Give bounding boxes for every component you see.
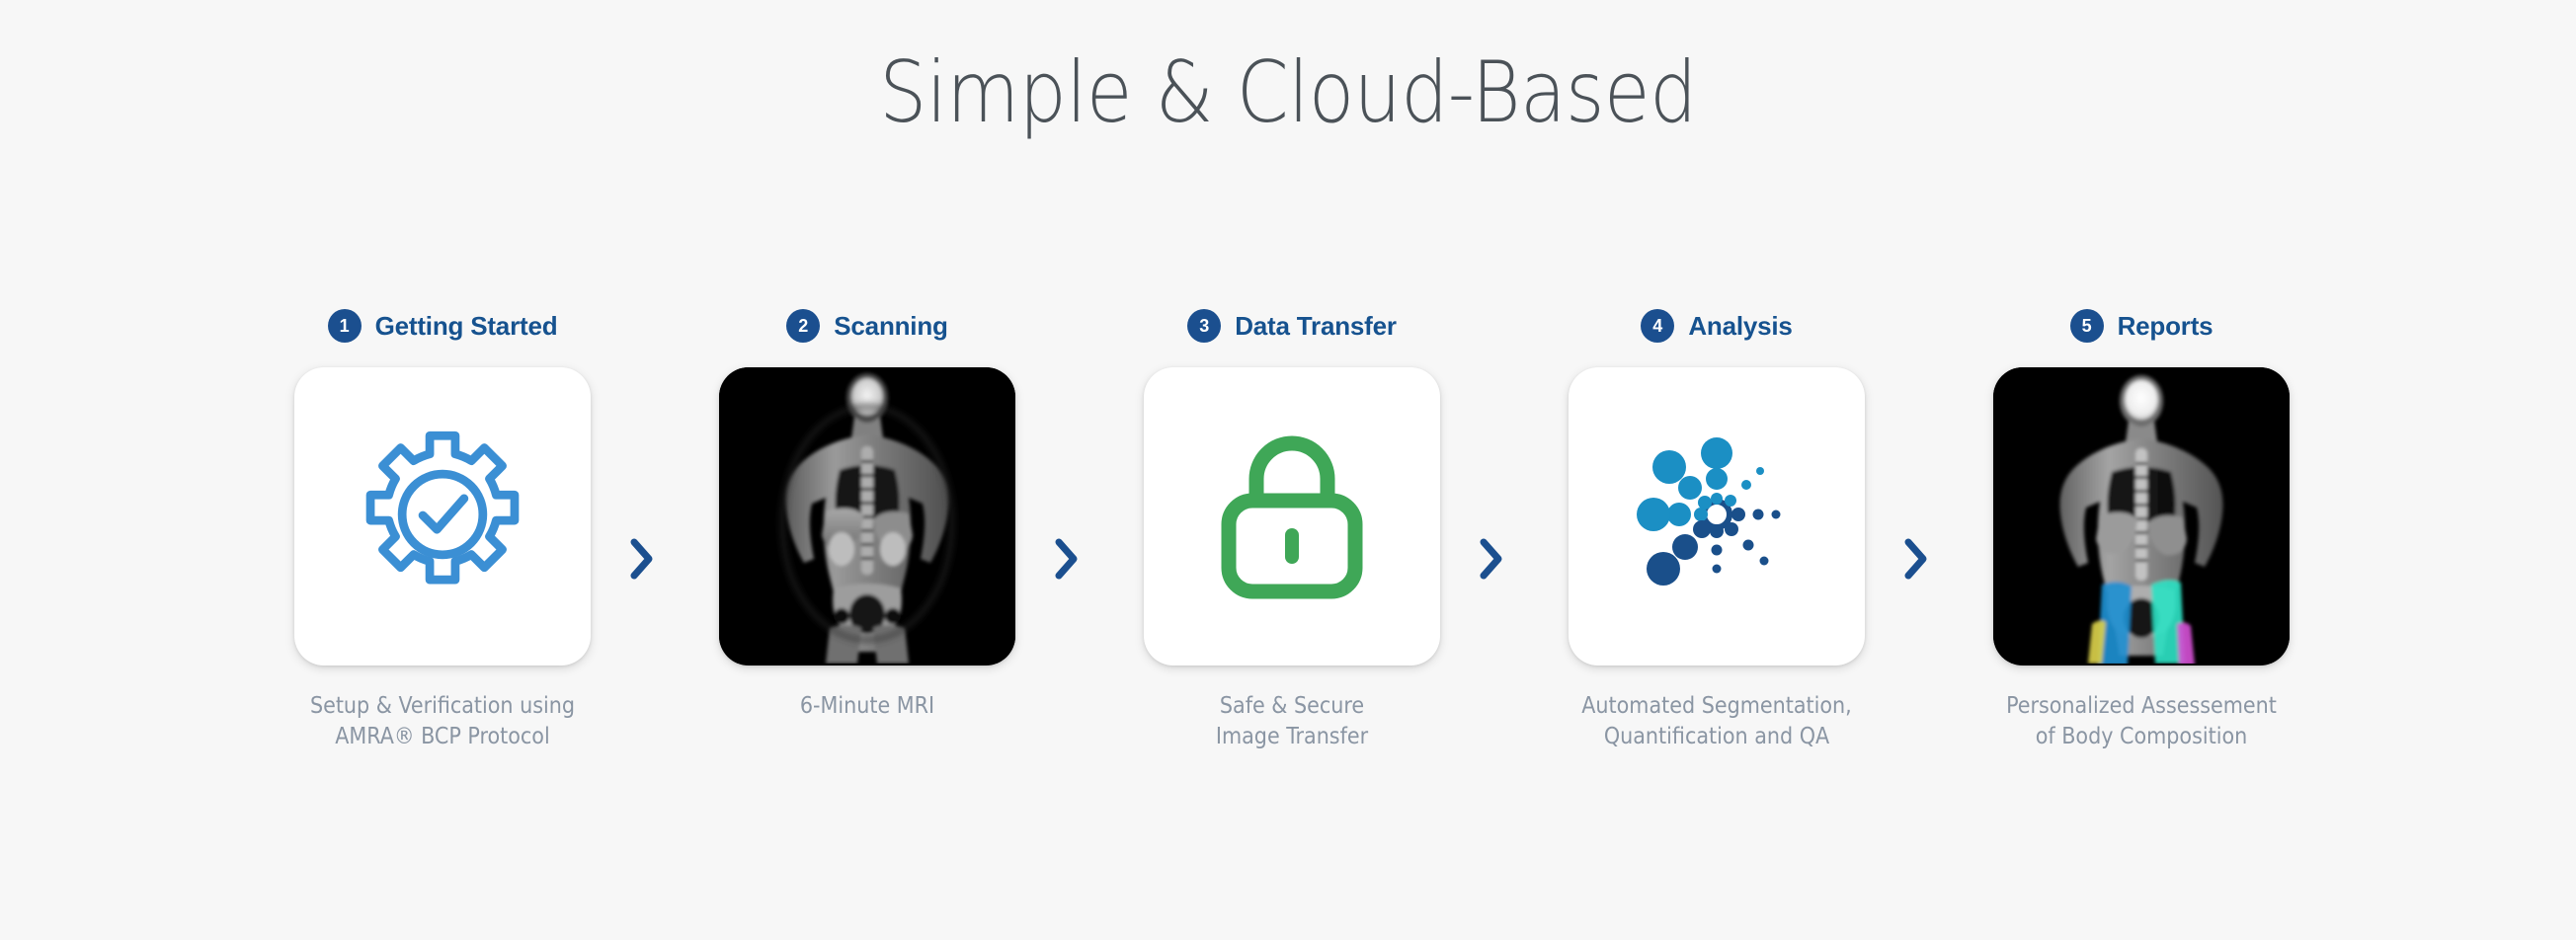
step-getting-started: 1 Getting Started Setup & Verification u… bbox=[245, 306, 640, 752]
step-caption: Setup & Verification using AMRA® BCP Pro… bbox=[310, 691, 575, 752]
step-label: Data Transfer bbox=[1235, 311, 1397, 342]
step-number-badge: 2 bbox=[786, 309, 820, 343]
mri-scan-image bbox=[719, 367, 1015, 666]
step-header: 5 Reports bbox=[2070, 306, 2214, 346]
radial-dots-icon bbox=[1618, 416, 1815, 618]
step-label: Analysis bbox=[1688, 311, 1792, 342]
step-card-getting-started[interactable] bbox=[294, 367, 591, 666]
gear-check-icon bbox=[349, 421, 536, 613]
step-caption: Personalized Assessement of Body Composi… bbox=[2006, 691, 2277, 752]
step-data-transfer: 3 Data Transfer Safe & Secure Image Tran… bbox=[1094, 306, 1489, 752]
page-title: Simple & Cloud-Based bbox=[154, 43, 2421, 142]
step-label: Reports bbox=[2118, 311, 2214, 342]
process-steps: 1 Getting Started Setup & Verification u… bbox=[245, 306, 2339, 752]
step-reports: 5 Reports bbox=[1944, 306, 2339, 752]
arrow-4-to-5 bbox=[1896, 531, 1936, 587]
step-analysis: 4 Analysis bbox=[1519, 306, 1914, 752]
step-number-badge: 5 bbox=[2070, 309, 2104, 343]
step-card-reports[interactable] bbox=[1993, 367, 2290, 666]
step-caption: Safe & Secure Image Transfer bbox=[1216, 691, 1368, 752]
arrow-2-to-3 bbox=[1047, 531, 1087, 587]
arrow-1-to-2 bbox=[622, 531, 662, 587]
step-card-analysis[interactable] bbox=[1569, 367, 1865, 666]
step-number-badge: 1 bbox=[328, 309, 362, 343]
step-number-badge: 3 bbox=[1187, 309, 1221, 343]
step-number-badge: 4 bbox=[1641, 309, 1674, 343]
page-root: Simple & Cloud-Based 1 Getting Started bbox=[0, 0, 2576, 940]
mri-segmented-image bbox=[1993, 367, 2290, 666]
step-label: Scanning bbox=[834, 311, 947, 342]
step-scanning: 2 Scanning bbox=[670, 306, 1065, 722]
lock-icon bbox=[1213, 426, 1371, 608]
step-card-data-transfer[interactable] bbox=[1144, 367, 1440, 666]
step-caption: Automated Segmentation, Quantification a… bbox=[1581, 691, 1851, 752]
step-header: 2 Scanning bbox=[786, 306, 947, 346]
step-header: 3 Data Transfer bbox=[1187, 306, 1397, 346]
step-caption: 6-Minute MRI bbox=[800, 691, 934, 722]
arrow-3-to-4 bbox=[1472, 531, 1511, 587]
step-label: Getting Started bbox=[375, 311, 558, 342]
step-card-scanning[interactable] bbox=[719, 367, 1015, 666]
step-header: 1 Getting Started bbox=[328, 306, 558, 346]
step-header: 4 Analysis bbox=[1641, 306, 1792, 346]
